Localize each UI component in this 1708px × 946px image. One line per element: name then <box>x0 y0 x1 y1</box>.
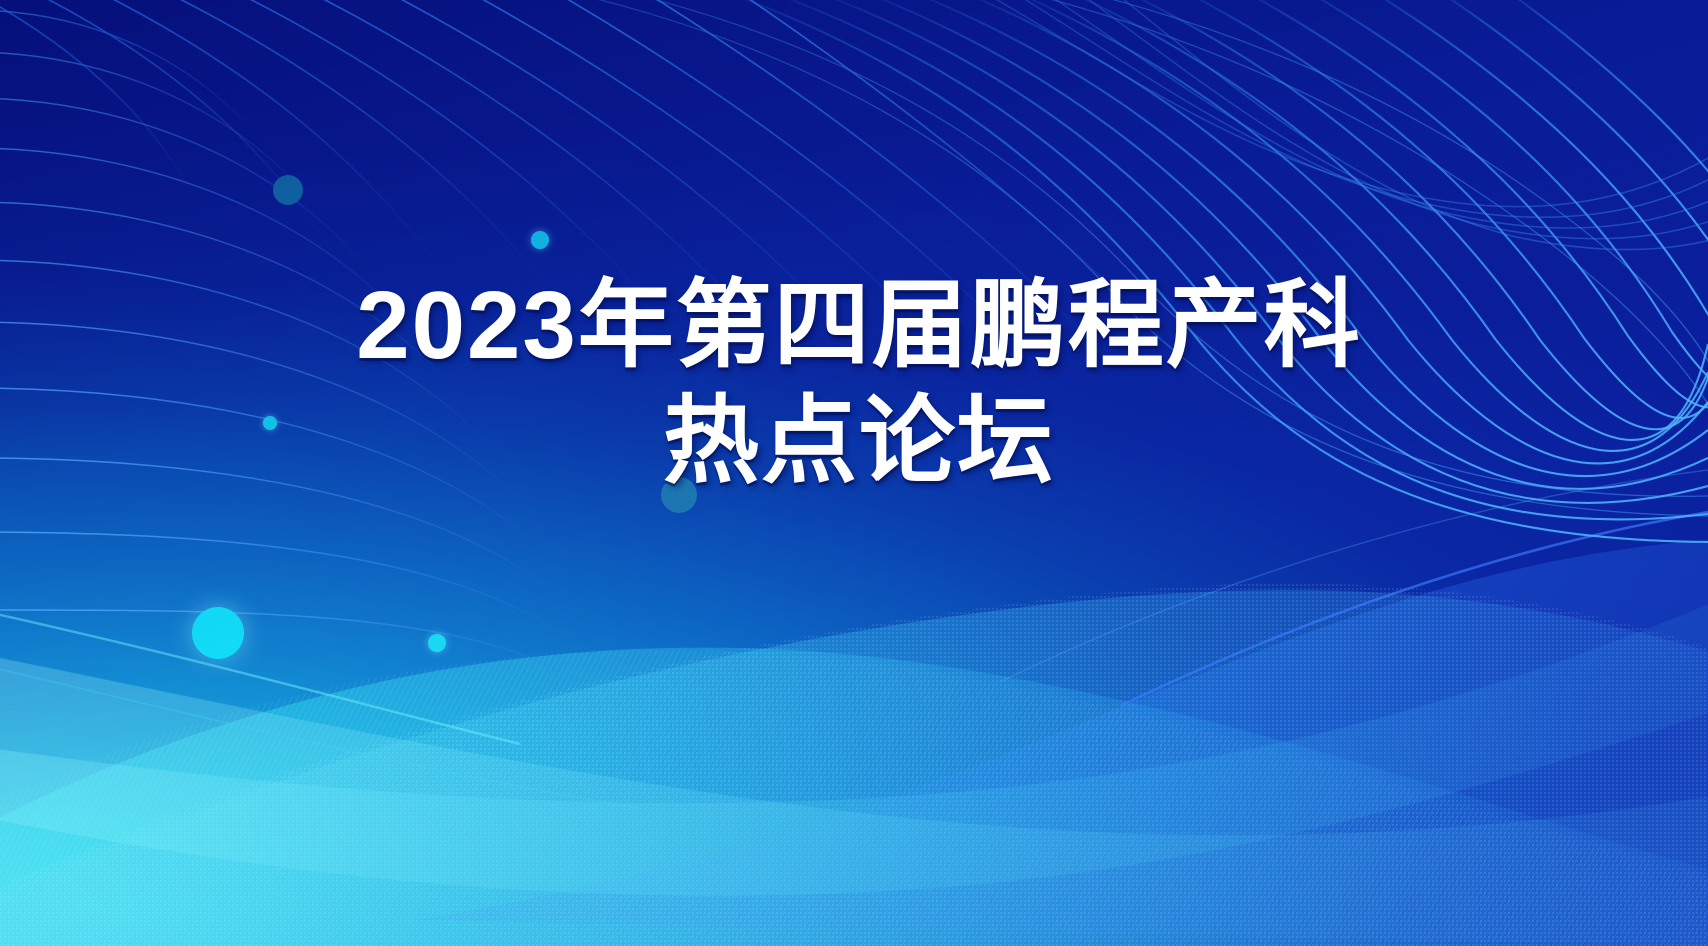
poster-title: 2023年第四届鹏程产科 热点论坛 <box>0 268 1708 500</box>
wave-ribbon-crossing <box>0 588 1708 896</box>
wave-glow-streak-3 <box>1120 512 1708 706</box>
mesh-arcs-top-right <box>980 0 1708 250</box>
dot-teal-large <box>273 175 303 205</box>
wave-ribbon-primary <box>0 648 1708 946</box>
wave-glow-streak-2 <box>0 660 640 808</box>
wave-ribbon-primary-texture <box>0 560 1708 946</box>
wave-sweep-upper-left <box>0 650 1708 946</box>
wave-glow-streak-4 <box>1000 470 1708 682</box>
poster-canvas: 2023年第四届鹏程产科 热点论坛 <box>0 0 1708 946</box>
wave-ribbon-deep <box>420 540 1708 946</box>
wave-glow-streak-1 <box>0 606 520 744</box>
wave-ribbon-secondary <box>0 590 1708 946</box>
dot-cyan-small <box>531 231 549 249</box>
title-line-2: 热点论坛 <box>0 384 1708 500</box>
dot-cyan-big <box>192 607 244 659</box>
wave-ribbon-secondary-texture <box>0 540 1708 946</box>
title-line-1: 2023年第四届鹏程产科 <box>0 268 1708 384</box>
dot-cyan-mid <box>428 634 446 652</box>
